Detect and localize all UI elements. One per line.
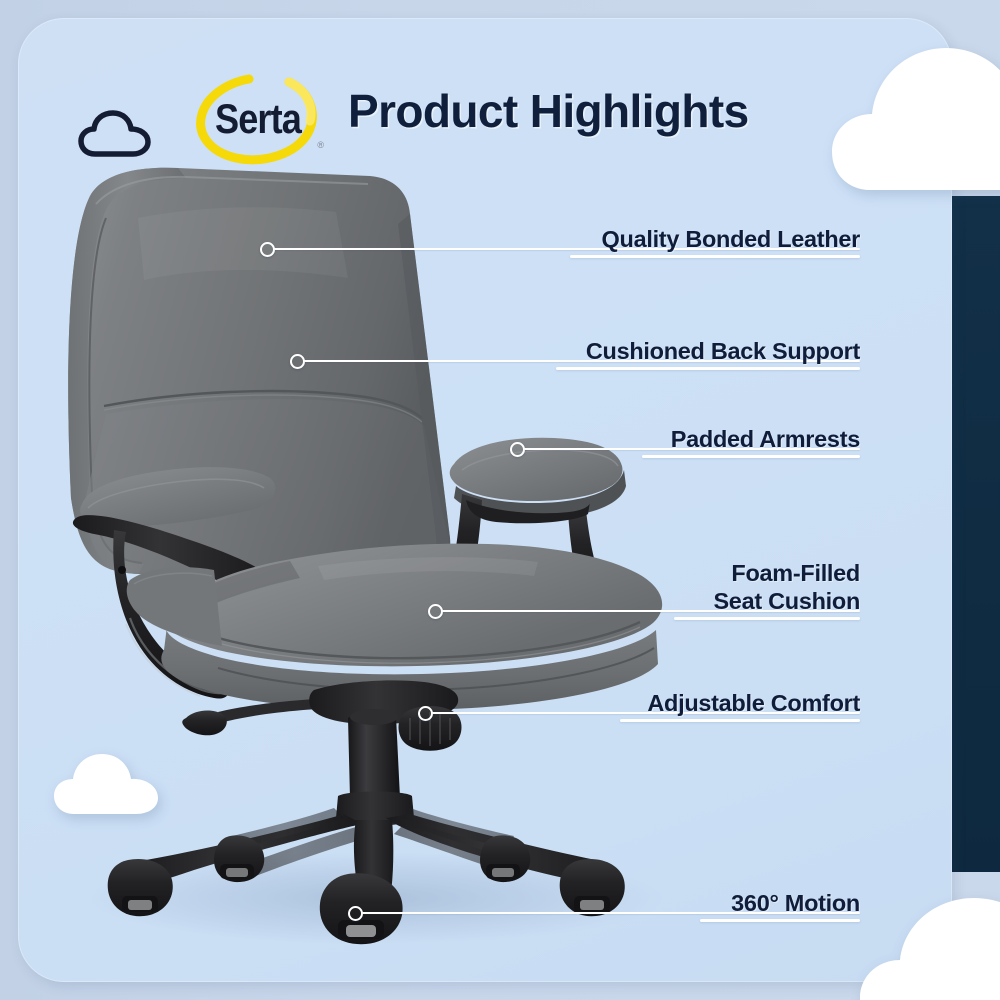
callout-adjustable-comfort: Adjustable Comfort <box>418 678 860 730</box>
infographic-root: Serta ® Product Highlights Quality Bonde… <box>0 0 1000 1000</box>
callout-underline <box>620 719 860 722</box>
callout-dot <box>348 906 363 921</box>
callout-quality-bonded-leather: Quality Bonded Leather <box>260 214 860 266</box>
callout-dot <box>428 604 443 619</box>
callout-label-line-1: Foam-Filled <box>731 560 860 586</box>
callout-underline <box>642 455 860 458</box>
callout-label: Foam-Filled Seat Cushion <box>713 559 860 616</box>
cloud-bottom-left-icon <box>52 748 172 820</box>
cloud-outline-icon <box>78 110 152 158</box>
callout-dot <box>290 354 305 369</box>
callout-padded-armrests: Padded Armrests <box>510 414 860 466</box>
callout-label-line-2: Seat Cushion <box>713 588 860 614</box>
callout-360-motion: 360° Motion <box>348 878 860 930</box>
callout-label: Quality Bonded Leather <box>602 225 860 254</box>
cloud-bottom-right-icon <box>858 858 1000 1000</box>
callout-underline <box>556 367 860 370</box>
callout-cushioned-back-support: Cushioned Back Support <box>290 326 860 378</box>
content-panel: Serta ® Product Highlights Quality Bonde… <box>18 18 952 982</box>
page-title: Product Highlights <box>348 84 749 138</box>
callout-label: Padded Armrests <box>671 425 860 454</box>
callout-underline <box>570 255 860 258</box>
callout-underline <box>700 919 860 922</box>
registered-mark: ® <box>317 140 324 150</box>
serta-logo: Serta ® <box>194 70 322 168</box>
callout-label: 360° Motion <box>731 889 860 918</box>
serta-logo-text: Serta <box>203 70 313 168</box>
callout-label: Cushioned Back Support <box>586 337 860 366</box>
callout-dot <box>260 242 275 257</box>
callout-foam-filled-seat-cushion: Foam-Filled Seat Cushion <box>428 542 860 628</box>
callout-dot <box>418 706 433 721</box>
cloud-top-right-icon <box>826 8 1000 198</box>
callout-underline <box>674 617 860 620</box>
callout-label: Adjustable Comfort <box>647 689 860 718</box>
header: Serta ® Product Highlights <box>18 18 952 188</box>
callout-dot <box>510 442 525 457</box>
